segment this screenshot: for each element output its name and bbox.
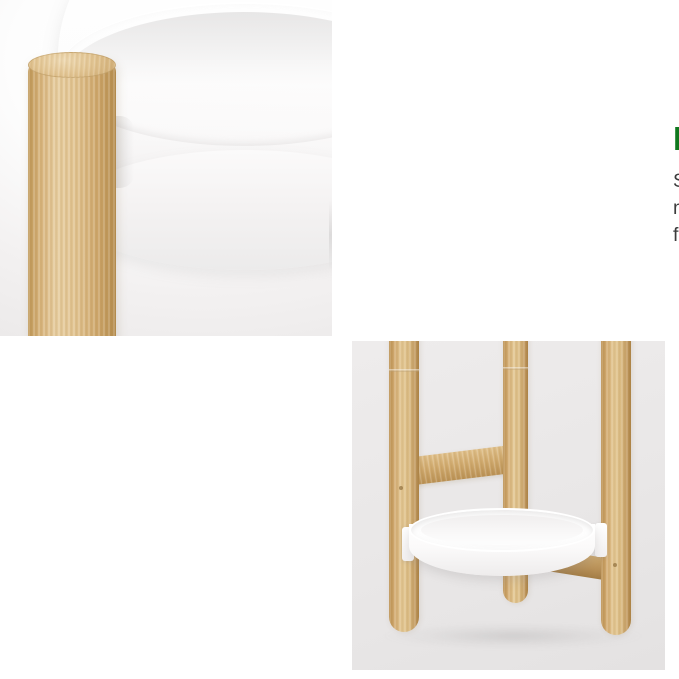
bamboo-node-left xyxy=(389,369,419,372)
full-plant-stand-photo xyxy=(352,341,665,670)
bamboo-leg-left xyxy=(389,341,419,632)
panel-top-right-text: Long Life-span Sturdy and durable bamboo… xyxy=(332,0,679,336)
bamboo-node-middle xyxy=(503,367,528,370)
panel-bottom-right-photo xyxy=(352,341,665,670)
tray-mount-tab-right xyxy=(595,523,607,557)
panel-top-left-photo xyxy=(0,0,332,336)
screw-left xyxy=(399,486,403,490)
body-long-lifespan: Sturdy and durable bamboo material makes… xyxy=(673,168,679,249)
tray-inner-surface xyxy=(421,515,583,545)
bamboo-post xyxy=(28,62,116,336)
panel-bottom-left-text: Strong Bearing Capacity The surface of t… xyxy=(0,336,352,679)
bamboo-post-top-cap xyxy=(28,52,116,78)
bamboo-post-closeup-photo xyxy=(0,0,332,336)
headline-long-lifespan: Long Life-span xyxy=(673,120,679,158)
bamboo-leg-right xyxy=(601,341,631,635)
product-infographic: Long Life-span Sturdy and durable bamboo… xyxy=(0,0,679,679)
white-circular-tray xyxy=(409,508,595,582)
closeup-scene xyxy=(0,0,332,336)
plant-stand-scene xyxy=(352,341,665,670)
screw-right xyxy=(613,563,617,567)
long-lifespan-text-block: Long Life-span Sturdy and durable bamboo… xyxy=(673,120,679,249)
